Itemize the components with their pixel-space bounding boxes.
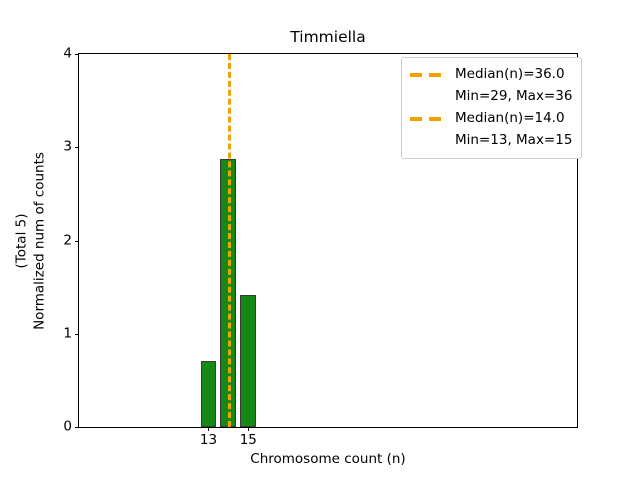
legend-dashed-line-icon [409,68,446,82]
y-tick-label: 2 [63,234,72,248]
legend-item-label: Min=13, Max=15 [455,134,572,148]
y-axis-label: Normalized num of counts [33,152,47,330]
legend-item-label: Median(n)=14.0 [455,112,565,126]
bar [201,361,217,427]
y-axis-label-group: Normalized num of counts (Total 5) [0,53,48,428]
y-tick-label: 3 [63,141,72,155]
legend-blank-handle [409,134,446,148]
legend-dashed-line-icon [409,112,446,126]
x-tick-label: 15 [240,434,257,448]
y-tick-mark [75,54,79,55]
chart-legend: Median(n)=36.0Min=29, Max=36Median(n)=14… [401,57,582,159]
y-tick-mark [75,241,79,242]
legend-blank-handle [409,90,446,104]
legend-item: Median(n)=14.0 [409,108,572,130]
y-tick-label: 0 [63,420,72,434]
x-tick-mark [208,427,209,431]
legend-item-label: Median(n)=36.0 [455,68,565,82]
y-tick-mark [75,334,79,335]
x-tick-mark [248,427,249,431]
bar [240,295,256,427]
y-tick-label: 1 [63,327,72,341]
y-tick-mark [75,427,79,428]
x-axis-label: Chromosome count (n) [78,452,578,467]
median-vline [228,54,231,427]
chart-title: Timmiella [78,28,578,46]
y-tick-label: 4 [63,47,72,61]
x-tick-label: 13 [200,434,217,448]
legend-item: Median(n)=36.0 [409,64,572,86]
chart-figure: Timmiella Normalized num of counts (Tota… [0,0,640,480]
y-axis-label-subtitle: (Total 5) [15,213,29,268]
legend-item: Min=13, Max=15 [409,130,572,152]
legend-item-label: Min=29, Max=36 [455,90,572,104]
legend-item: Min=29, Max=36 [409,86,572,108]
y-tick-mark [75,147,79,148]
